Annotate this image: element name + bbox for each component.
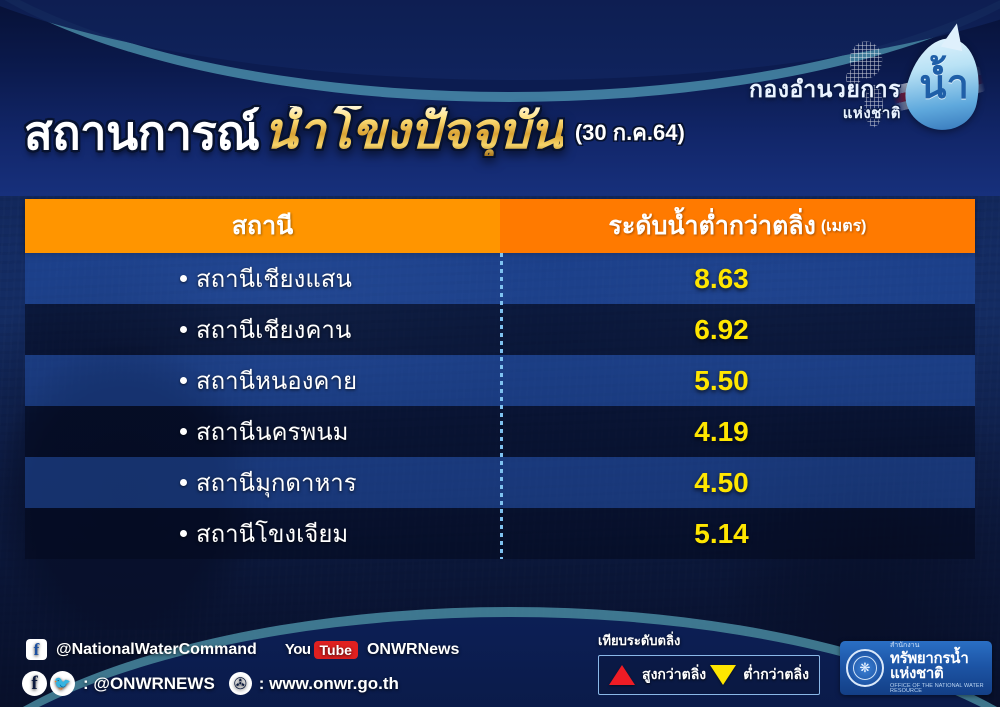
legend-item-below: ต่ำกว่าตลิ่ง xyxy=(710,664,809,686)
cell-value: 4.19 xyxy=(500,416,975,448)
water-drop-icon: น้ำ xyxy=(899,32,989,137)
column-header-station: สถานี xyxy=(25,199,500,253)
onwr-seal-icon: ❋ xyxy=(846,649,884,687)
title-highlight: น้ำโขงปัจจุบัน xyxy=(263,106,562,156)
cell-station: สถานีหนองคาย xyxy=(25,361,500,400)
bullet-icon xyxy=(180,479,187,486)
bullet-icon xyxy=(180,377,187,384)
station-name: สถานีนครพนม xyxy=(196,412,348,451)
legend-box: สูงกว่าตลิ่ง ต่ำกว่าตลิ่ง xyxy=(598,655,820,695)
bullet-icon xyxy=(180,428,187,435)
triangle-up-icon xyxy=(609,665,635,685)
badge-line-1: กองอำนวยการ xyxy=(749,78,901,101)
onwr-seal-inner-glyph: ❋ xyxy=(853,656,877,680)
badge-line-2: แห่งชาติ xyxy=(749,106,901,121)
station-name: สถานีมุกดาหาร xyxy=(196,463,357,502)
cell-station: สถานีเชียงคาน xyxy=(25,310,500,349)
cell-value: 5.14 xyxy=(500,518,975,550)
column-header-level: ระดับน้ำต่ำกว่าตลิ่ง (เมตร) xyxy=(500,199,975,253)
station-name: สถานีโขงเจียม xyxy=(196,514,348,553)
water-level-table: สถานี ระดับน้ำต่ำกว่าตลิ่ง (เมตร) สถานีเ… xyxy=(25,199,975,559)
social-handle[interactable]: : @ONWRNEWS xyxy=(83,674,215,694)
cell-station: สถานีโขงเจียม xyxy=(25,514,500,553)
facebook-handle[interactable]: @NationalWaterCommand xyxy=(56,641,257,659)
cell-station: สถานีมุกดาหาร xyxy=(25,463,500,502)
legend-title: เทียบระดับตลิ่ง xyxy=(598,630,820,651)
onwr-line-1: สำนักงาน xyxy=(890,642,986,649)
cell-station: สถานีนครพนม xyxy=(25,412,500,451)
legend-label-above: สูงกว่าตลิ่ง xyxy=(642,664,706,686)
station-name: สถานีหนองคาย xyxy=(196,361,357,400)
website-url[interactable]: : www.onwr.go.th xyxy=(259,674,399,694)
onwr-line-2: ทรัพยากรน้ำแห่งชาติ xyxy=(890,651,986,681)
youtube-icon-tube: Tube xyxy=(314,641,358,659)
onwr-logo: ❋ สำนักงาน ทรัพยากรน้ำแห่งชาติ OFFICE OF… xyxy=(840,641,992,695)
infographic-poster: น้ำ กองอำนวยการ แห่งชาติ สถานการณ์ น้ำโข… xyxy=(0,0,1000,707)
title-date: (30 ก.ค.64) xyxy=(575,115,685,156)
bullet-icon xyxy=(180,530,187,537)
legend: เทียบระดับตลิ่ง สูงกว่าตลิ่ง ต่ำกว่าตลิ่… xyxy=(598,630,820,695)
onwr-line-3: OFFICE OF THE NATIONAL WATER RESOURCE xyxy=(890,684,986,695)
badge-text: กองอำนวยการ แห่งชาติ xyxy=(749,78,901,121)
twitter-icon[interactable]: 🐦 xyxy=(50,671,75,696)
water-drop-glyph: น้ำ xyxy=(908,38,980,130)
cell-station: สถานีเชียงแสน xyxy=(25,259,500,298)
youtube-link[interactable]: You Tube ONWRNews xyxy=(285,641,460,659)
title-primary: สถานการณ์ xyxy=(24,109,259,156)
cell-value: 5.50 xyxy=(500,365,975,397)
legend-item-above: สูงกว่าตลิ่ง xyxy=(609,664,706,686)
triangle-down-icon xyxy=(710,665,736,685)
station-name: สถานีเชียงคาน xyxy=(196,310,351,349)
globe-icon[interactable]: ✇ xyxy=(229,672,252,695)
facebook-icon[interactable]: f xyxy=(26,639,47,660)
facebook-round-icon[interactable]: f xyxy=(22,671,47,696)
onwr-logo-text: สำนักงาน ทรัพยากรน้ำแห่งชาติ OFFICE OF T… xyxy=(890,642,986,695)
youtube-icon-you: You xyxy=(285,641,311,658)
bullet-icon xyxy=(180,275,187,282)
bullet-icon xyxy=(180,326,187,333)
footer-line-1: f @NationalWaterCommand You Tube ONWRNew… xyxy=(26,639,459,660)
youtube-channel: ONWRNews xyxy=(367,641,459,659)
table-header-row: สถานี ระดับน้ำต่ำกว่าตลิ่ง (เมตร) xyxy=(25,199,975,253)
cell-value: 4.50 xyxy=(500,467,975,499)
page-title: สถานการณ์ น้ำโขงปัจจุบัน (30 ก.ค.64) xyxy=(24,106,685,156)
column-divider xyxy=(500,253,503,559)
footer-line-2: f 🐦 : @ONWRNEWS ✇ : www.onwr.go.th xyxy=(22,671,399,696)
cell-value: 8.63 xyxy=(500,263,975,295)
cell-value: 6.92 xyxy=(500,314,975,346)
column-header-level-label: ระดับน้ำต่ำกว่าตลิ่ง xyxy=(609,206,816,246)
table-body: สถานีเชียงแสน 8.63 สถานีเชียงคาน 6.92 สถ… xyxy=(25,253,975,559)
legend-label-below: ต่ำกว่าตลิ่ง xyxy=(743,664,809,686)
column-header-level-unit: (เมตร) xyxy=(821,214,867,239)
national-command-badge: น้ำ กองอำนวยการ แห่งชาติ xyxy=(736,30,986,135)
station-name: สถานีเชียงแสน xyxy=(196,259,352,298)
